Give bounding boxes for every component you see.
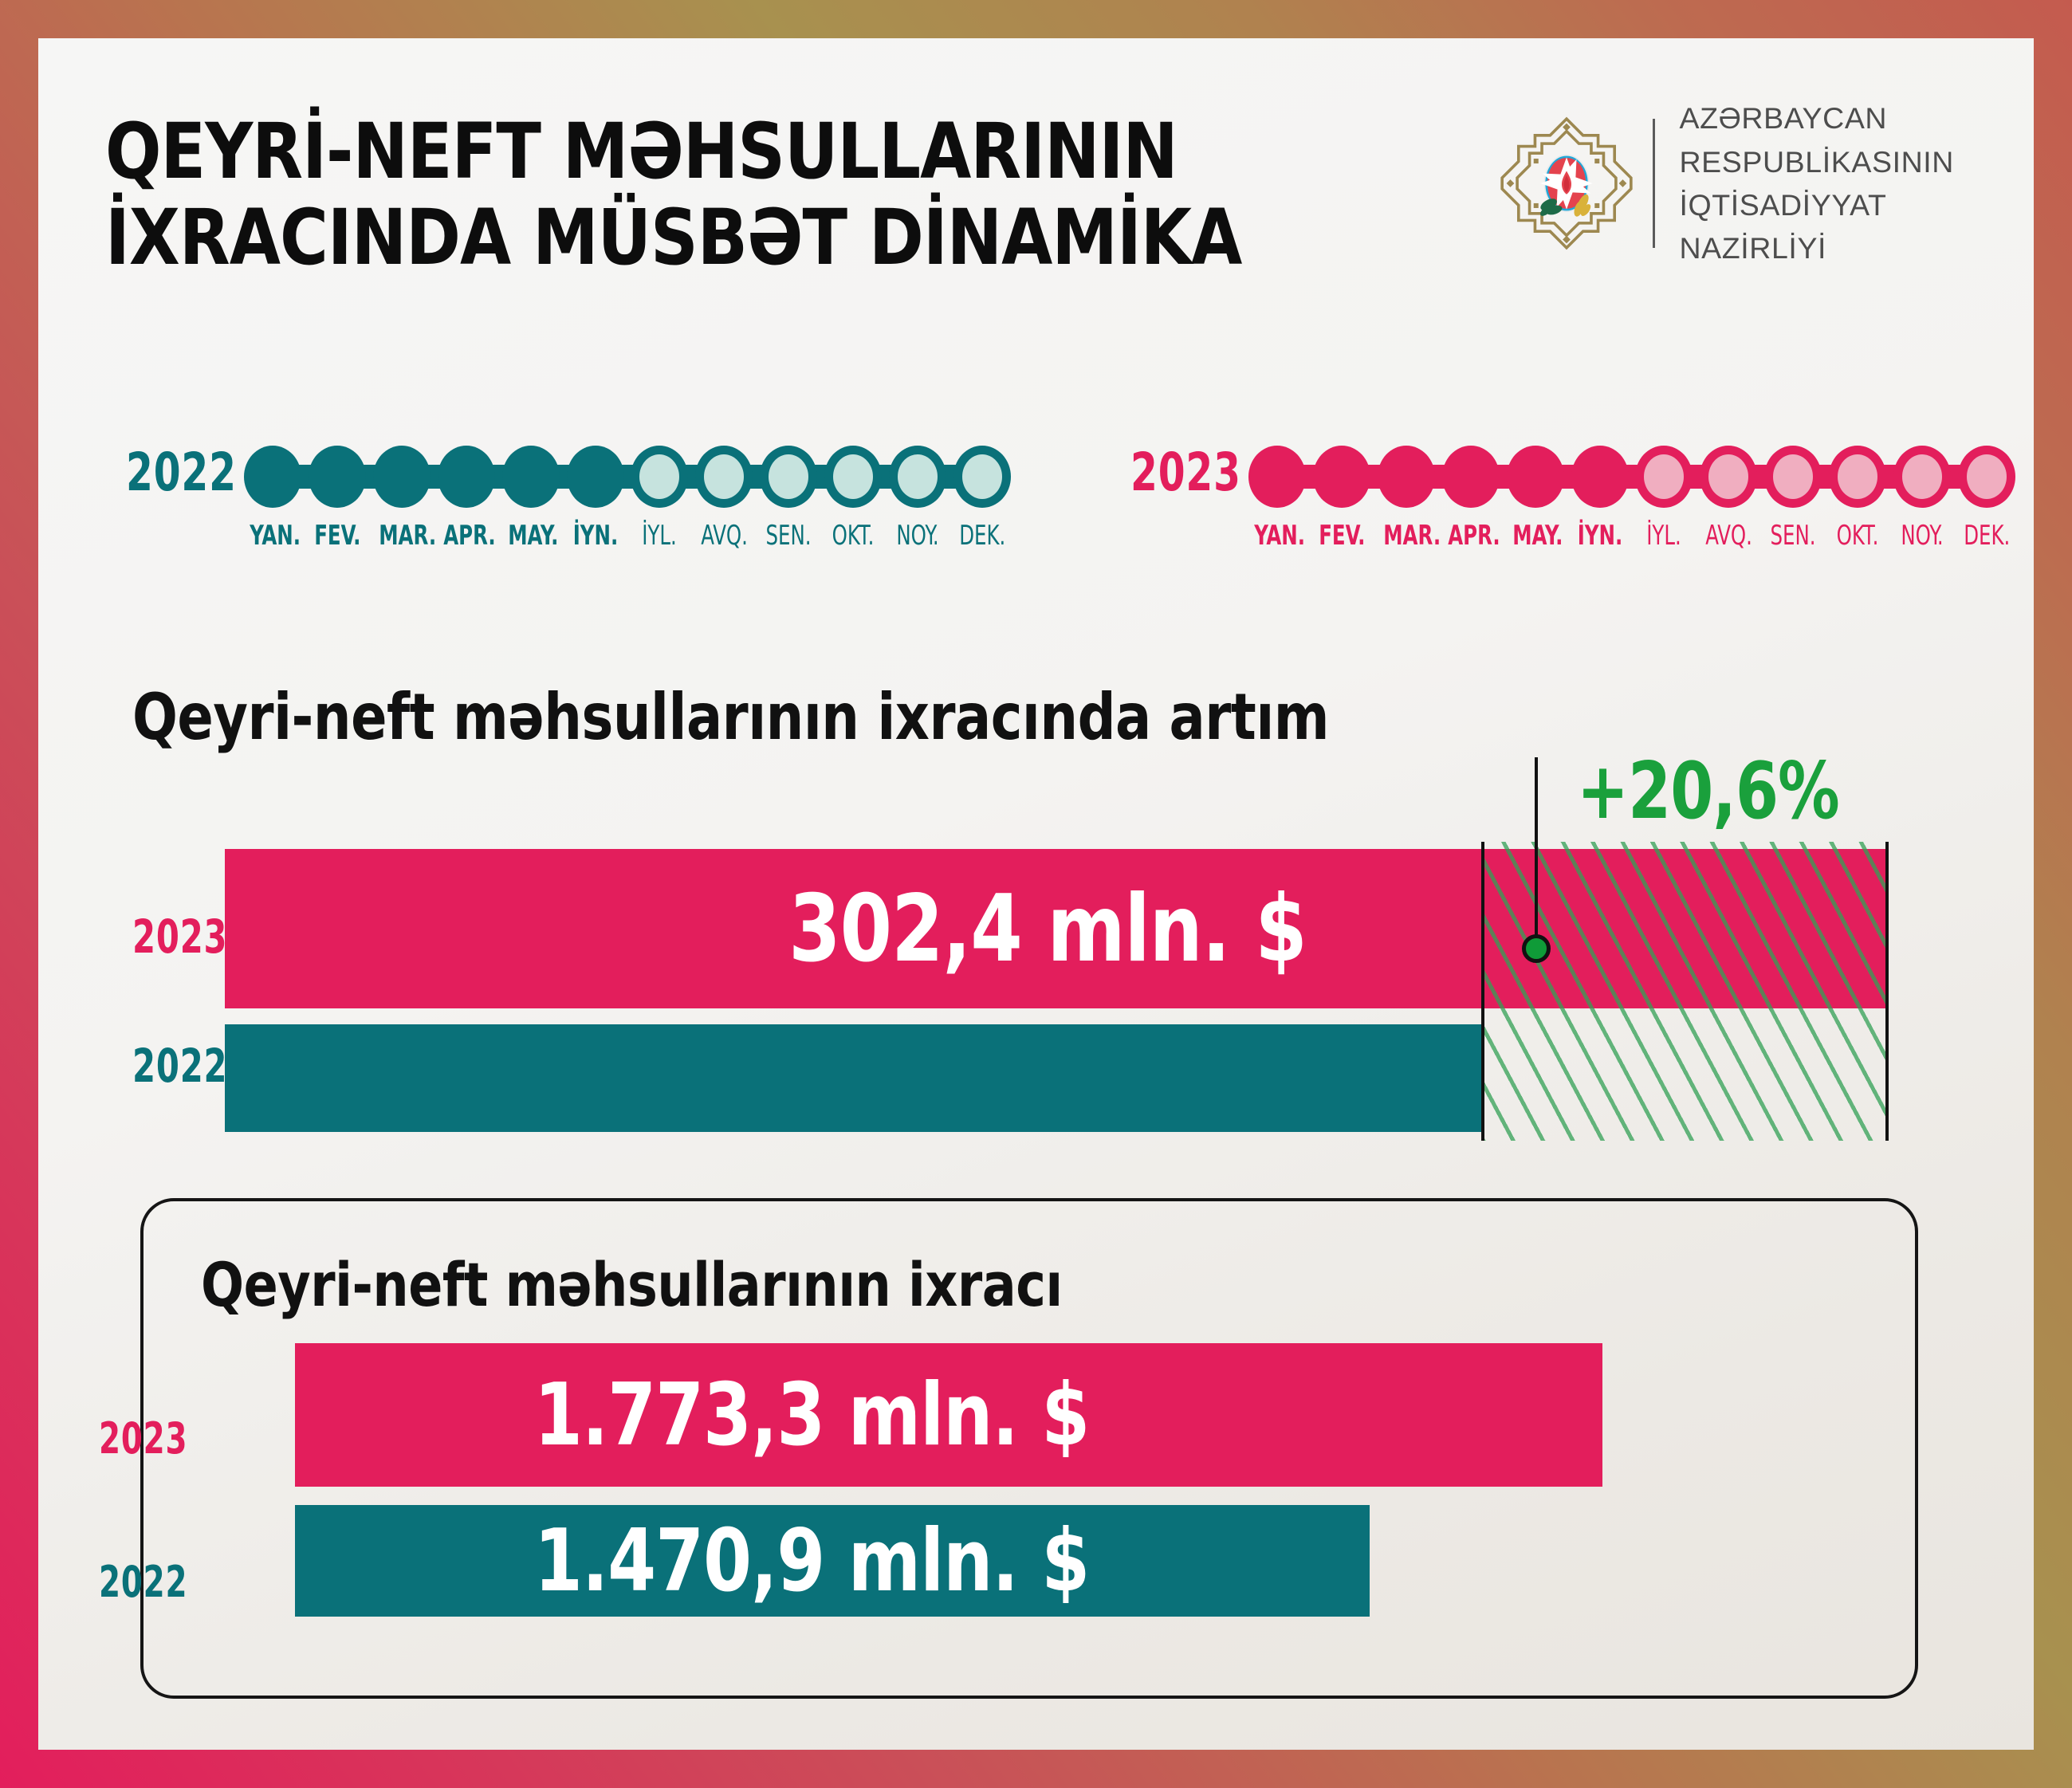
month-dot-apr <box>1442 446 1500 508</box>
month-label: SEN. <box>765 520 812 552</box>
header: QEYRİ-NEFT MƏHSULLARININ İXRACINDA MÜSBƏ… <box>38 38 2034 277</box>
growth-bar-2022 <box>225 1024 1482 1132</box>
month-label: İYL. <box>637 520 683 552</box>
month-label: FEV. <box>1319 520 1365 552</box>
month-label: DEK. <box>1964 520 2010 552</box>
month-dot-yan <box>1248 446 1306 508</box>
month-label: YAN. <box>250 520 296 552</box>
growth-bar-value-2023: 302,4 mln. $ <box>288 849 1420 1008</box>
month-dot-mar <box>373 446 431 508</box>
month-label: DEK. <box>959 520 1005 552</box>
month-label: İYN. <box>1577 520 1623 552</box>
export-bar-label-2022: 2022 <box>99 1557 187 1607</box>
infographic-canvas: QEYRİ-NEFT MƏHSULLARININ İXRACINDA MÜSBƏ… <box>38 38 2034 1750</box>
growth-delta-left-rule <box>1481 842 1484 1141</box>
export-bar-2022: 1.470,9 mln. $ <box>295 1505 1370 1617</box>
month-dot-sen <box>760 446 817 508</box>
month-dot-iyn <box>1571 446 1629 508</box>
month-label: MAY. <box>1512 520 1559 552</box>
ministry-name: AZƏRBAYCAN RESPUBLİKASININ İQTİSADİYYAT … <box>1679 96 1954 270</box>
month-dot-fev <box>309 446 366 508</box>
export-bar-2023: 1.773,3 mln. $ <box>295 1343 1602 1487</box>
month-dot-iyl <box>1635 446 1693 508</box>
month-label: APR. <box>443 520 489 552</box>
timeline-2023: 2023 YAN. <box>1130 437 2031 564</box>
export-bar-value-2022: 1.470,9 mln. $ <box>534 1511 1089 1611</box>
timeline-year-label: 2023 <box>1130 442 1241 503</box>
month-dot-avq <box>1700 446 1757 508</box>
month-dot-iyn <box>567 446 624 508</box>
growth-section-heading: Qeyri-neft məhsullarının ixracında artım <box>132 680 1329 754</box>
timeline-year-label: 2022 <box>126 442 237 503</box>
month-label: OKT. <box>830 520 876 552</box>
ministry-logo: AZƏRBAYCAN RESPUBLİKASININ İQTİSADİYYAT … <box>1498 112 1954 255</box>
month-label: MAR. <box>379 520 425 552</box>
month-label: MAY. <box>508 520 554 552</box>
month-dot-mar <box>1378 446 1435 508</box>
month-label: YAN. <box>1254 520 1300 552</box>
month-label: NOY. <box>894 520 941 552</box>
month-label: FEV. <box>314 520 360 552</box>
timeline-dots <box>1248 437 2015 517</box>
azerbaijan-state-emblem-icon <box>1498 115 1635 252</box>
month-dot-iyl <box>631 446 688 508</box>
month-label: AVQ. <box>702 520 748 552</box>
month-dot-noy <box>1893 446 1951 508</box>
export-bar-label-2023: 2023 <box>99 1413 187 1464</box>
month-dot-dek <box>953 446 1011 508</box>
growth-annotation-marker-icon <box>1522 934 1551 963</box>
month-label: OKT. <box>1834 520 1881 552</box>
month-label: AVQ. <box>1706 520 1752 552</box>
month-label: NOY. <box>1899 520 1945 552</box>
month-dot-may <box>502 446 560 508</box>
timeline-2022: 2022 YAN. <box>126 437 1027 564</box>
growth-annotation-leader-line <box>1535 757 1538 949</box>
month-dot-yan <box>244 446 301 508</box>
timeline-labels: YAN. FEV. MAR. APR. MAY. İYN. İYL. AVQ. … <box>244 520 1011 552</box>
month-dot-may <box>1507 446 1564 508</box>
growth-bar-label-2022: 2022 <box>132 1039 227 1093</box>
growth-bar-label-2023: 2023 <box>132 910 227 964</box>
growth-bar-2023: 302,4 mln. $ <box>225 849 1888 1008</box>
timeline-track: YAN. FEV. MAR. APR. MAY. İYN. İYL. AVQ. … <box>1248 437 2015 532</box>
month-dot-fev <box>1313 446 1370 508</box>
month-label: İYL. <box>1641 520 1688 552</box>
timeline-dots <box>244 437 1011 517</box>
month-dot-apr <box>438 446 495 508</box>
page-title: QEYRİ-NEFT MƏHSULLARININ İXRACINDA MÜSBƏ… <box>105 108 1406 281</box>
gradient-frame: QEYRİ-NEFT MƏHSULLARININ İXRACINDA MÜSBƏ… <box>0 0 2072 1788</box>
export-bar-value-2023: 1.773,3 mln. $ <box>534 1366 1089 1465</box>
month-label: İYN. <box>572 520 619 552</box>
export-section-heading: Qeyri-neft məhsullarının ixracı <box>201 1249 1063 1320</box>
logo-divider <box>1653 119 1655 248</box>
month-label: MAR. <box>1383 520 1429 552</box>
month-dot-okt <box>1829 446 1886 508</box>
month-dot-avq <box>695 446 753 508</box>
timeline-track: YAN. FEV. MAR. APR. MAY. İYN. İYL. AVQ. … <box>244 437 1011 532</box>
month-dot-dek <box>1958 446 2015 508</box>
timeline-labels: YAN. FEV. MAR. APR. MAY. İYN. İYL. AVQ. … <box>1248 520 2015 552</box>
month-label: SEN. <box>1770 520 1816 552</box>
month-dot-okt <box>824 446 882 508</box>
growth-delta-right-rule <box>1885 842 1889 1141</box>
month-dot-sen <box>1764 446 1822 508</box>
growth-percent-badge: +20,6% <box>1577 746 1839 837</box>
month-dot-noy <box>889 446 946 508</box>
month-label: APR. <box>1448 520 1494 552</box>
